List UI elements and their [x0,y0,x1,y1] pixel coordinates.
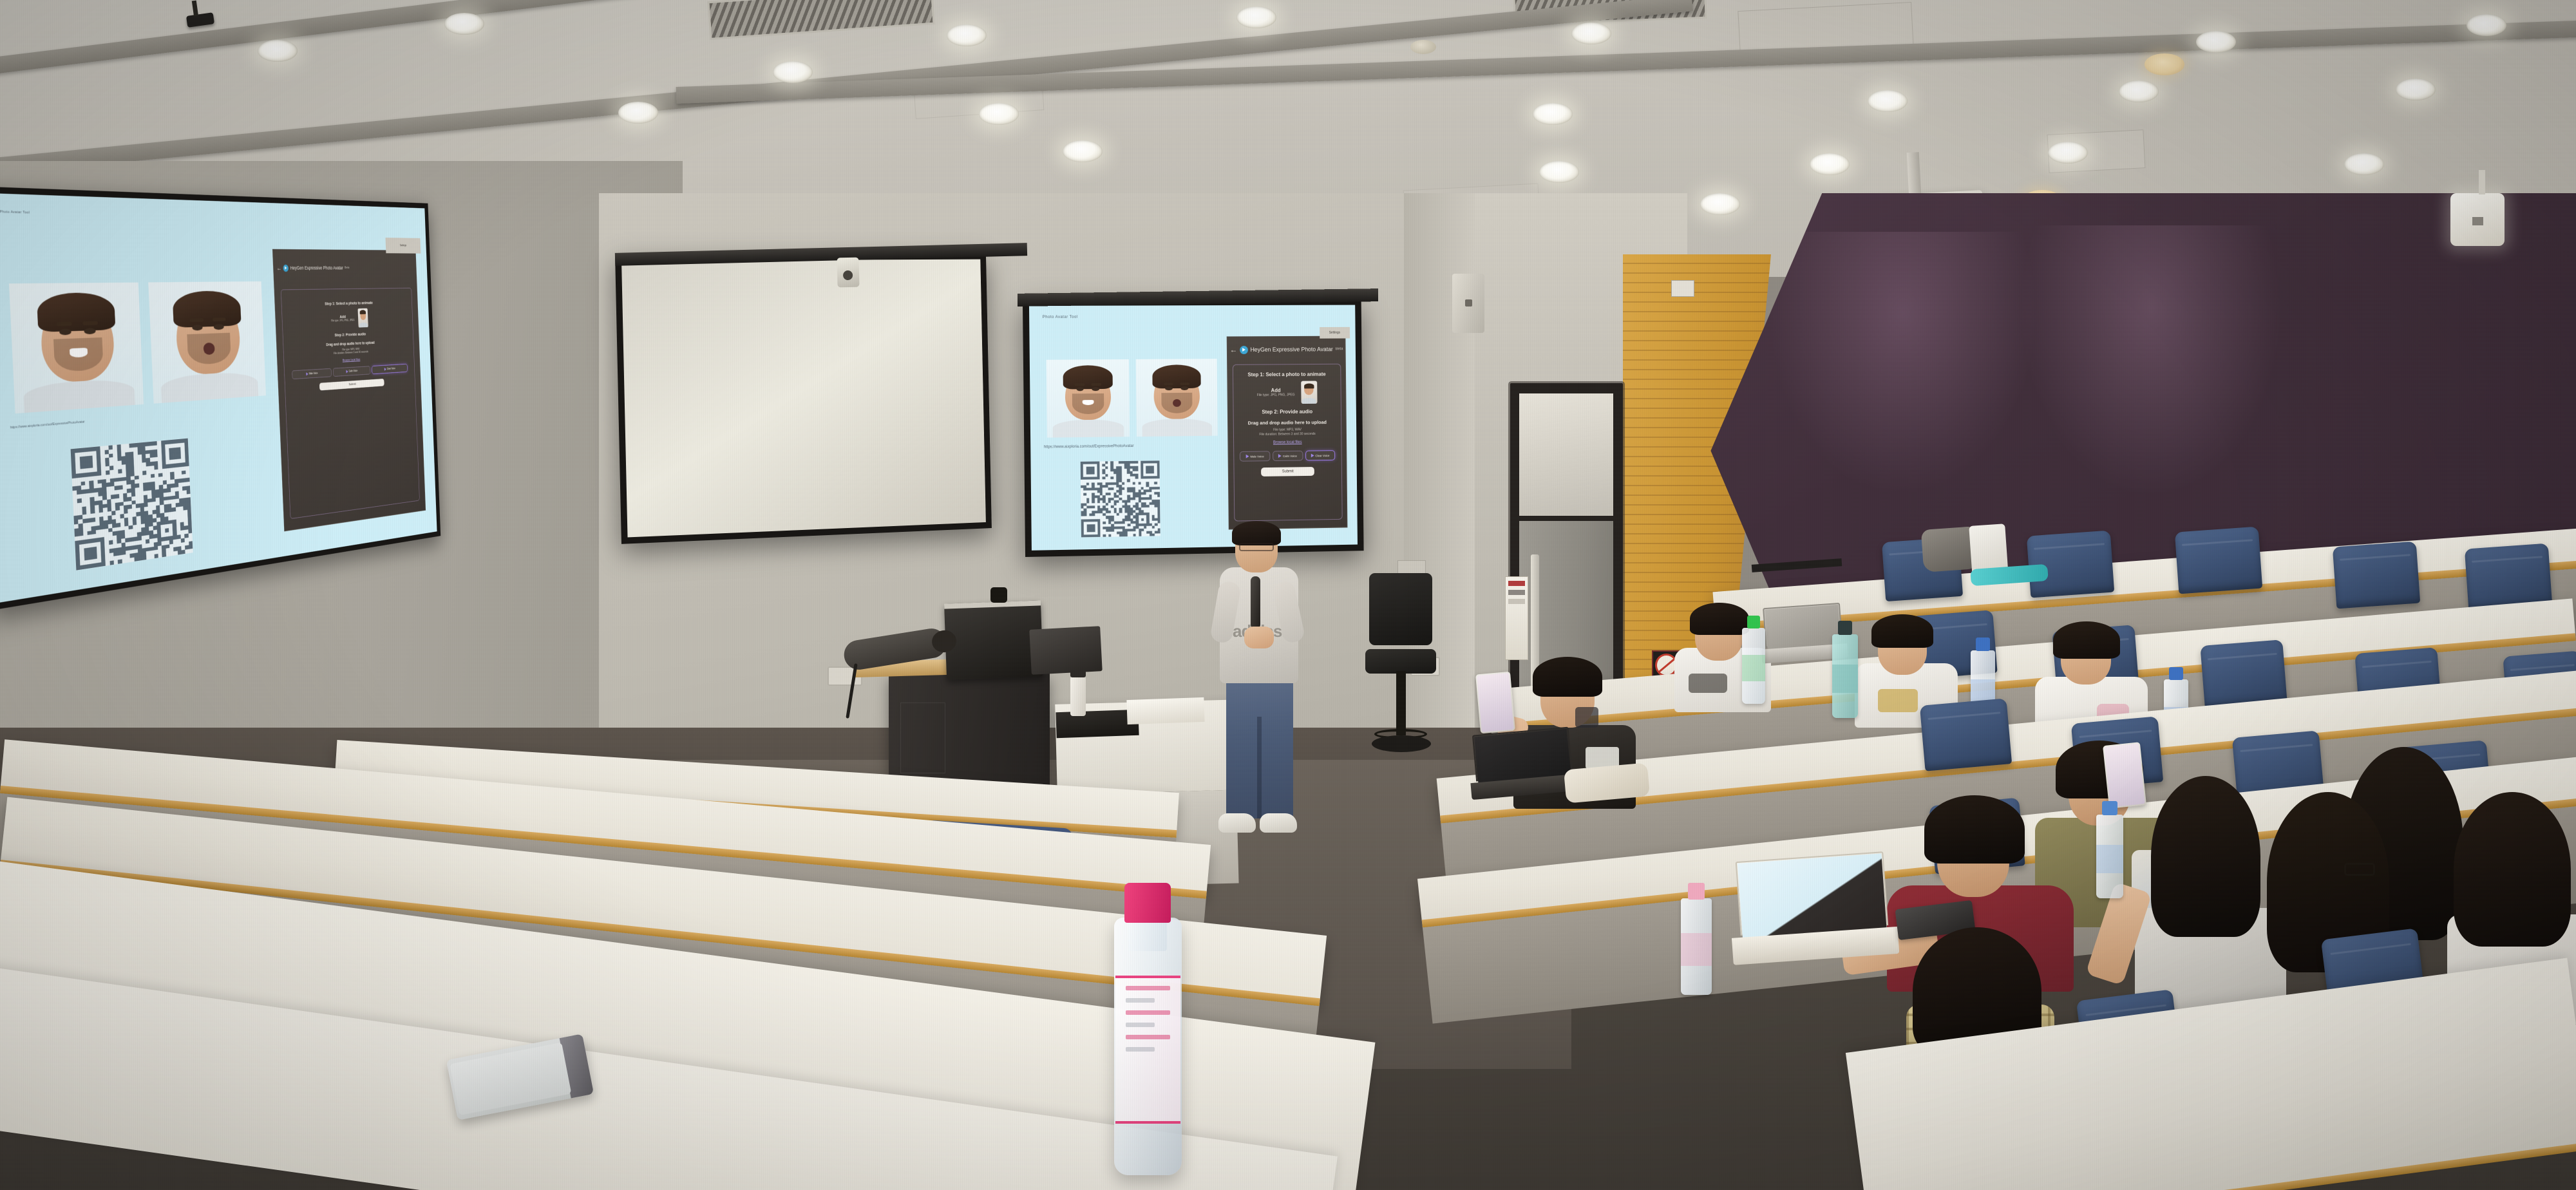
play-icon[interactable] [1246,455,1249,458]
water-bottle [2096,815,2123,898]
step-1-label: Step 1: Select a photo to animate [1239,372,1334,378]
door-notice [1505,576,1528,660]
app-screenshot-panel: Settings ← HeyGen Expressive Photo Avata… [1227,336,1348,530]
app-body: Step 1: Select a photo to animate Add Fi… [1232,363,1342,522]
bottle-cap [1124,883,1171,923]
lectern-panel [900,703,945,773]
ceiling-downlight [2048,142,2088,164]
ceiling-downlight [258,40,298,62]
lectern-laptop[interactable] [1029,626,1103,675]
avatar-smiling [1046,359,1130,438]
chair[interactable] [2200,639,2287,709]
office-stool[interactable] [1365,573,1436,766]
center-whiteboard-screen [615,253,992,544]
ceiling-downlight [444,13,484,35]
play-icon[interactable] [346,370,348,373]
back-arrow-icon[interactable]: ← [1230,345,1238,354]
play-icon[interactable] [306,372,308,375]
ceiling-downlight [1063,140,1103,162]
shirt-graphic [1689,674,1727,693]
slide-avatar-images [1046,359,1218,438]
presenter-shoe-left [1218,813,1256,833]
student-hair [1871,614,1933,648]
audio-chip[interactable]: Calm Voice [333,366,371,377]
settings-button[interactable]: Settings [1320,327,1350,339]
ceiling-downlight [1868,90,1908,112]
browse-local-files-link[interactable]: Browse local files [1240,440,1335,446]
webcam-icon [990,587,1007,603]
step-1-label: Step 1: Select a photo to animate [289,299,405,307]
chair[interactable] [1920,698,2012,771]
ceiling-downlight [618,102,658,124]
audio-sample-chips: Male Voice Calm Voice Clear Voice [292,364,408,379]
avatar-talking [1135,359,1218,437]
submit-button[interactable]: Submit [319,379,384,390]
slide-photo-avatar-tool-copy: Photo Avatar Tool https:// [1029,305,1358,551]
ceiling-downlight [1571,23,1611,44]
heygen-logo-icon [283,265,289,272]
photo-thumbnail [358,308,368,328]
ceiling-downlight [947,24,987,46]
play-icon[interactable] [1311,454,1314,458]
door-window [1519,393,1613,516]
presenter-hair [1232,521,1281,545]
ceiling-downlight [773,61,813,83]
water-bottle-pink-cap [1681,898,1712,995]
slide-url: https://www.aixploria.com/out/Expressive… [10,420,85,430]
lecture-hall-photograph: Photo Avatar Tool https: [0,0,2576,1190]
student-hair [2454,792,2571,947]
center-screen-surface [621,260,986,538]
student-hair [2053,621,2120,659]
presenter-glasses-icon [1239,543,1274,551]
chair[interactable] [2333,542,2420,609]
green-bottle [1742,628,1765,704]
avatar-smiling [8,282,143,413]
presenter-shoe-right [1260,813,1297,833]
ceiling-downlight [1539,161,1579,183]
water-bottle-pink-cap-foreground [1114,918,1182,1175]
audio-chip[interactable]: Male Voice [1240,451,1270,461]
left-projection-screen: Photo Avatar Tool https: [0,186,440,610]
slide-photo-avatar-tool: Photo Avatar Tool https: [0,193,437,603]
presenter-hands [1244,627,1274,648]
slide-title: Photo Avatar Tool [1043,316,1078,319]
ceiling-smoke-detector [2145,53,2184,75]
ceiling-downlight [2196,31,2236,53]
wall-light-glow [1765,232,2041,502]
glasses-icon [2344,863,2375,876]
audio-chip[interactable]: Calm Voice [1273,451,1303,461]
left-screen-surface: Photo Avatar Tool https: [0,193,437,603]
ceiling-downlight [2344,153,2384,175]
emergency-light-stem [2479,170,2485,194]
audio-duration-hint: File duration: Between 3 and 30 seconds [1240,431,1335,437]
beta-badge: Beta [1336,347,1343,351]
settings-button[interactable]: Settings [385,238,421,254]
tablet-showing-slide[interactable] [1736,851,1891,965]
wall-light-glow [2016,225,2286,502]
shirt-graphic [1878,689,1918,712]
back-arrow-icon[interactable]: ← [276,264,281,272]
heygen-logo-icon [1240,346,1248,354]
audio-dropzone-label[interactable]: Drag and drop audio here to upload [1240,419,1335,426]
audio-chip-selected[interactable]: Clear Voice [372,364,408,374]
app-titlebar: ← HeyGen Expressive Photo Avatar Beta [276,256,414,281]
ceiling-downlight [2467,14,2506,36]
presenter-jeans [1226,678,1293,818]
photo-filetypes: File type: JPG, PNG, JPEG [1257,393,1295,398]
ceiling-downlight [1236,6,1276,28]
right-projection-screen: Photo Avatar Tool https:// [1023,299,1364,557]
app-screenshot-panel: Settings ← HeyGen Expressive Photo Avata… [272,249,426,532]
wall-plate [1671,280,1694,297]
handheld-microphone [1251,576,1260,629]
student-grey-tshirt-phone [2145,776,2270,1001]
play-icon[interactable] [384,368,386,371]
student-hair [2151,776,2260,937]
ceiling-downlight [1533,103,1573,125]
student-hair [1924,795,2025,864]
wall-speaker-icon [1452,274,1484,333]
emergency-light [2450,193,2505,246]
bottle-label [1115,976,1180,1124]
ceiling-downlight [2396,79,2436,100]
qr-code [70,438,193,571]
step-2-label: Step 2: Provide audio [1239,409,1334,415]
photo-filetypes: File type: JPG, PNG, JPEG [331,319,355,323]
lectern-monitor[interactable] [944,600,1043,679]
ceiling-downlight [979,103,1019,125]
slide-title: Photo Avatar Tool [0,210,30,214]
audio-sample-chips: Male Voice Calm Voice Clear Voice [1240,450,1335,462]
slide-avatar-images [8,281,265,413]
photo-thumbnail [1301,381,1317,404]
thermos-flask [1070,676,1086,716]
ceiling-downlight [1810,153,1850,175]
avatar-talking [148,281,266,404]
app-title: HeyGen Expressive Photo Avatar [290,265,343,271]
smartphone-taking-photo[interactable] [1475,672,1515,733]
app-titlebar: ← HeyGen Expressive Photo Avatar Beta [1229,341,1343,359]
photo-upload-row: Add File type: JPG, PNG, JPEG [1239,381,1335,404]
projector-mount-pole [1907,152,1921,195]
teal-sports-bottle [1832,634,1858,718]
room-camera [837,258,859,288]
white-tray [1126,697,1204,724]
submit-button[interactable]: Submit [1261,467,1314,477]
ceiling-downlight [2119,80,2159,102]
ceiling-downlight [1700,193,1740,215]
smoke-detector-icon [1410,40,1436,54]
slide-url: https://www.aixploria.com/out/Expressive… [1044,444,1134,449]
smartphone-taking-photo[interactable] [2103,742,2146,809]
audio-chip-selected[interactable]: Clear Voice [1305,450,1336,460]
beta-badge: Beta [345,267,350,270]
app-body: Step 1: Select a photo to animate Add Fi… [281,287,420,518]
silver-laptop[interactable] [1763,603,1844,663]
dark-laptop[interactable] [1472,727,1574,800]
face-mask [1575,707,1598,728]
right-screen-surface: Photo Avatar Tool https:// [1029,305,1358,551]
app-title: HeyGen Expressive Photo Avatar [1250,346,1332,353]
student-hair [1690,603,1749,635]
presenter: adidas [1211,525,1307,847]
step-2-label: Step 2: Provide audio [290,330,406,339]
play-icon[interactable] [1278,454,1282,458]
photo-upload-row: Add File type: JPG, PNG, JPEG [290,307,406,330]
chair[interactable] [2175,527,2262,594]
qr-code [1081,461,1160,538]
audio-chip[interactable]: Male Voice [292,368,332,379]
student-hair [1533,657,1602,697]
